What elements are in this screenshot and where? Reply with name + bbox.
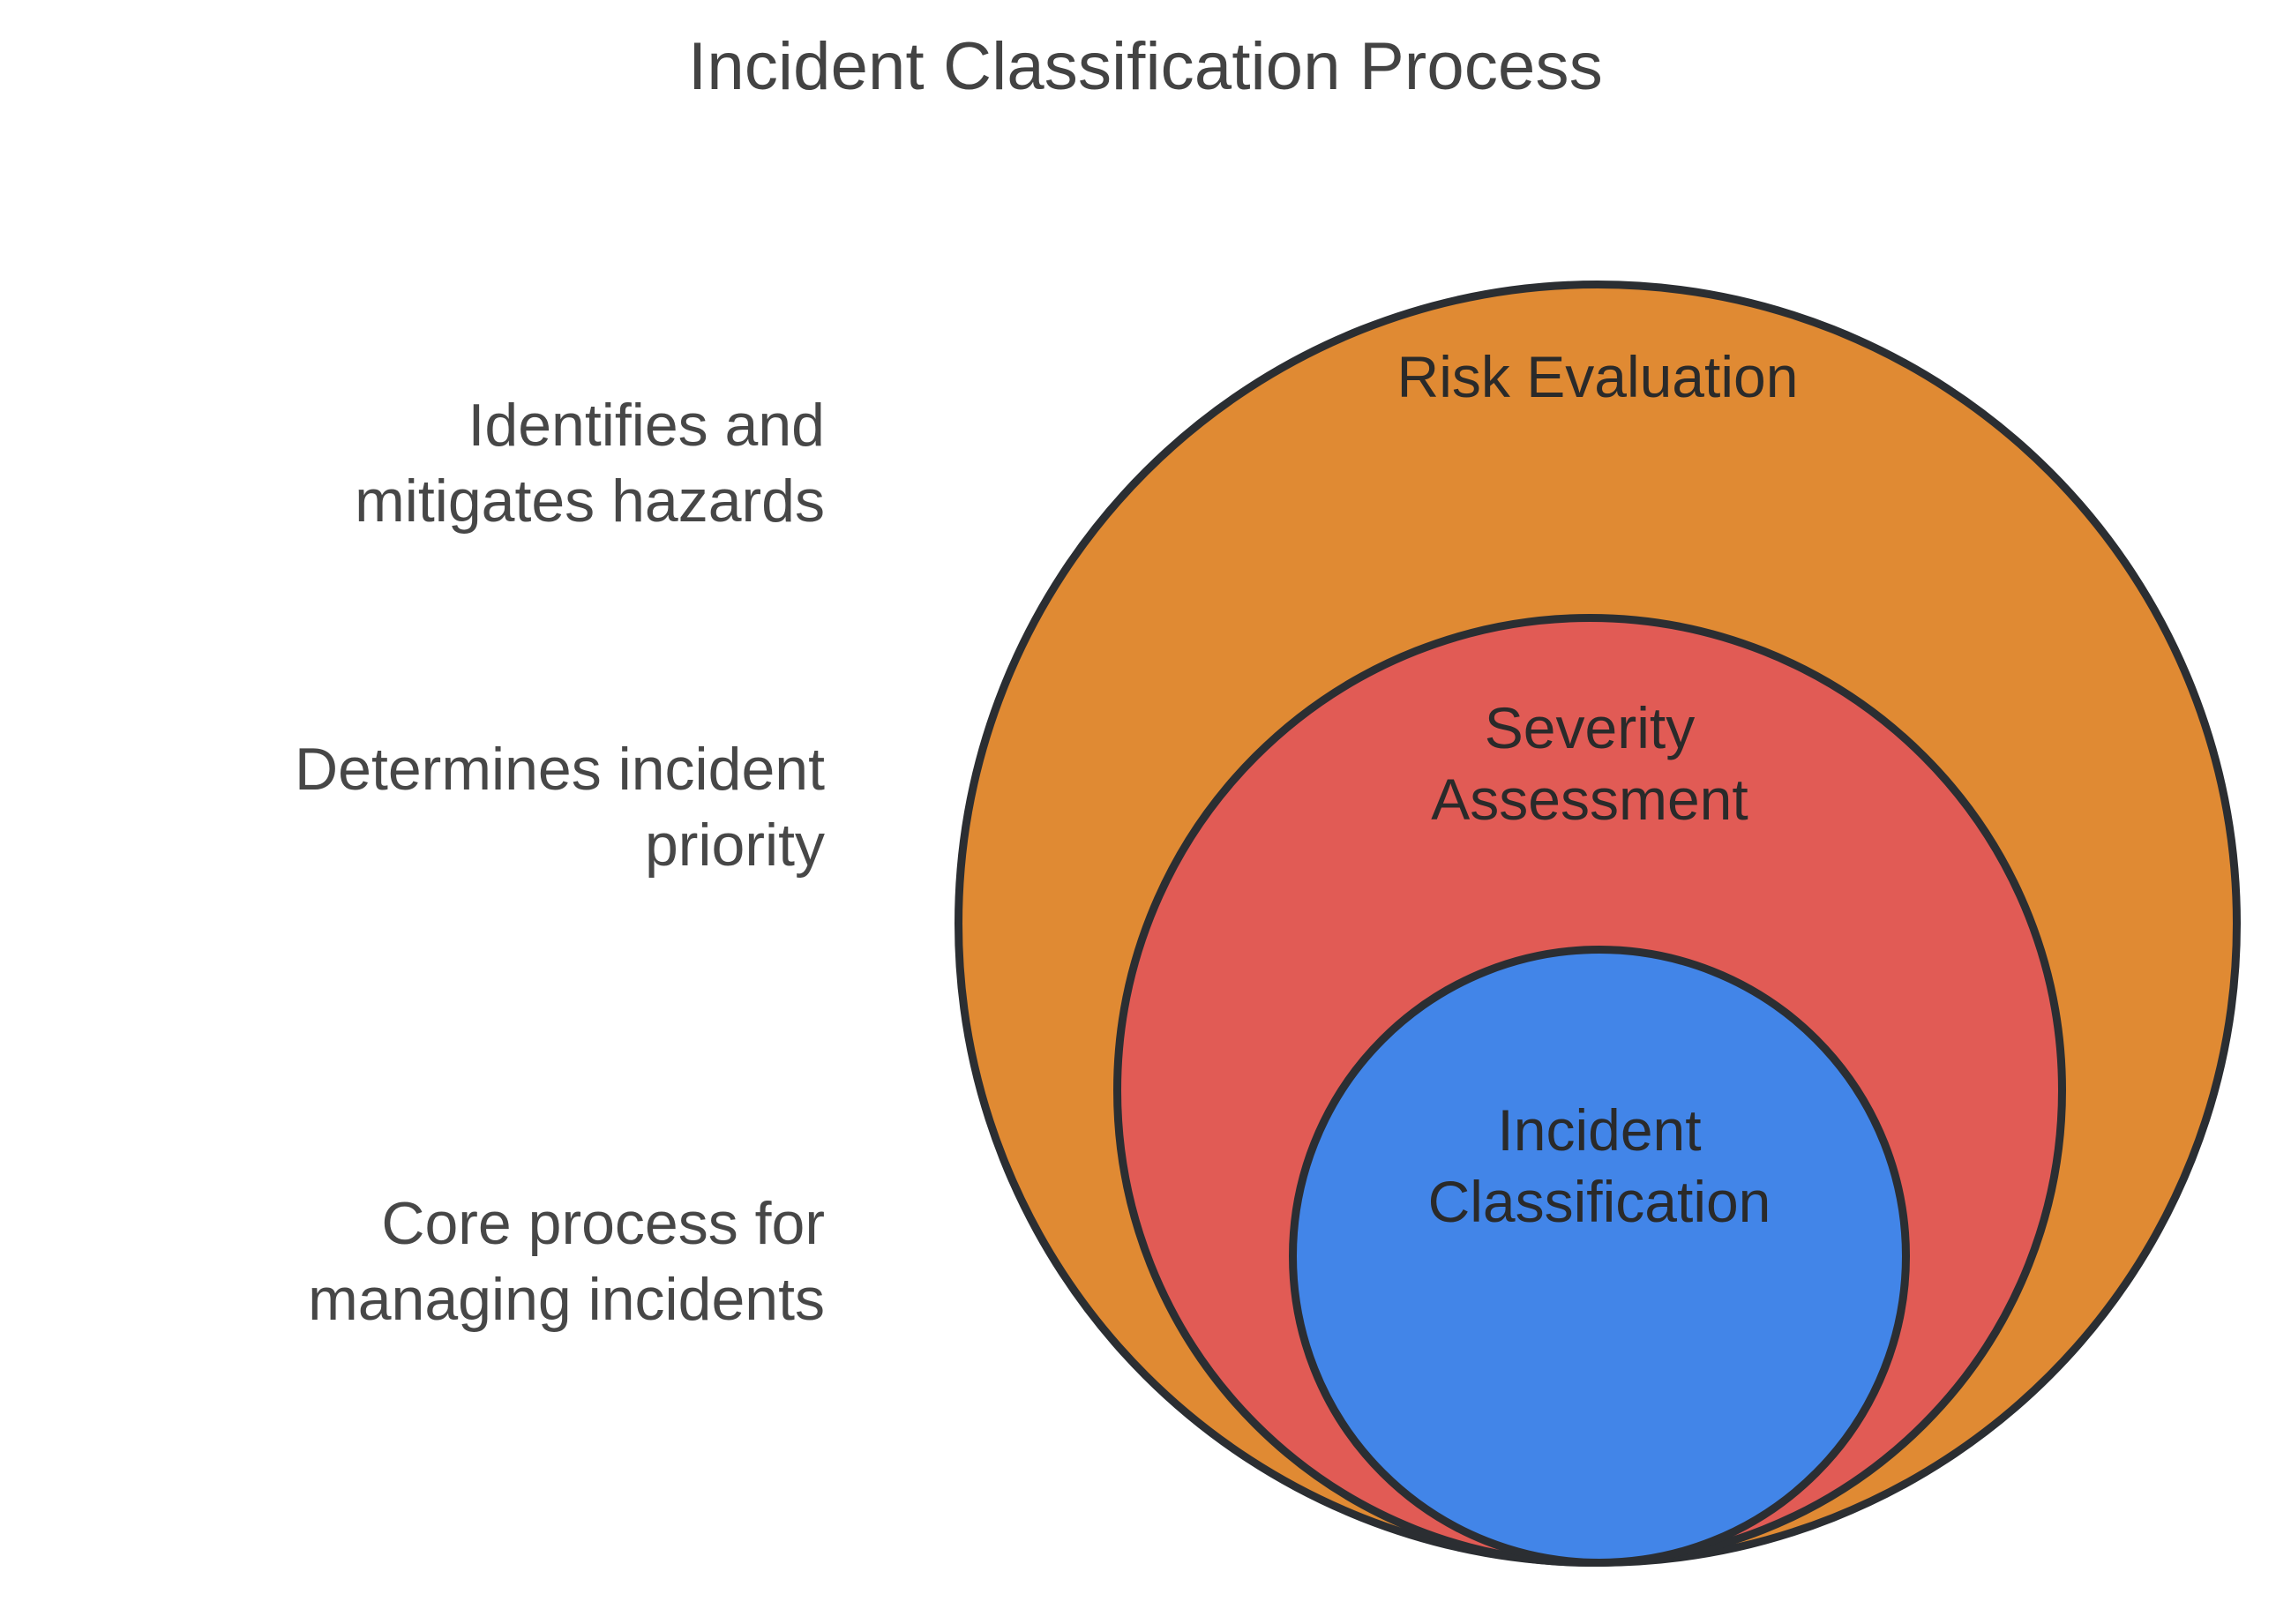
circle-label-incident-classification: Incident Classification [1428,1095,1771,1559]
nested-circles-group: Risk Evaluation Severity Assessment Inci… [0,0,2291,1624]
circle-incident-classification[interactable]: Incident Classification [1289,946,1910,1567]
diagram-canvas: Incident Classification Process Identifi… [0,0,2291,1624]
